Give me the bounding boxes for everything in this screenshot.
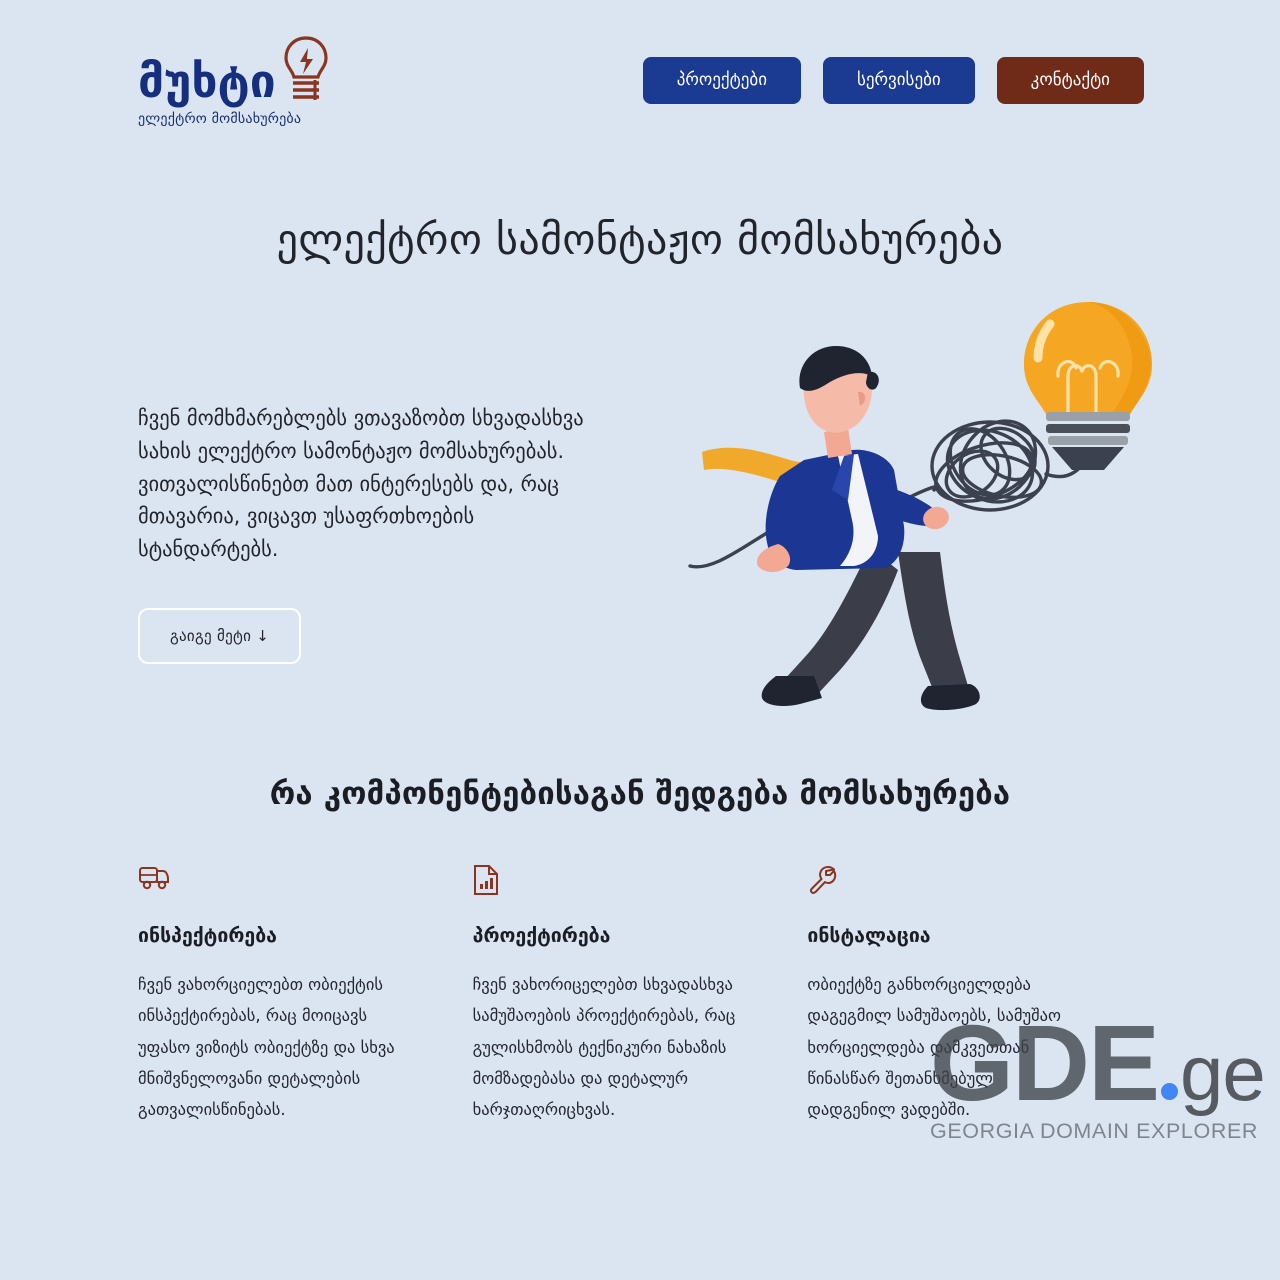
- features-cards: ინსპექტირება ჩვენ ვახორციელებთ ობიექტის …: [0, 864, 1280, 1126]
- nav-button-projects[interactable]: პროექტები: [643, 57, 801, 104]
- hero-illustration: [672, 284, 1172, 724]
- feature-card-title: ინსპექტირება: [138, 924, 413, 947]
- learn-more-button[interactable]: გაიგე მეტი ↓: [138, 608, 301, 664]
- document-chart-icon: [473, 864, 748, 898]
- nav-button-services[interactable]: სერვისები: [823, 57, 975, 104]
- feature-card-design: პროექტირება ჩვენ ვახორიცელებთ სხვადასხვა…: [473, 864, 808, 1126]
- hero-text-block: ჩვენ მომხმარებლებს ვთავაზობთ სხვადასხვა …: [138, 384, 608, 664]
- feature-card-body: ობიექტზე განხორციელდება დაგეგმილ სამუშაო…: [807, 969, 1082, 1126]
- hero-paragraph: ჩვენ მომხმარებლებს ვთავაზობთ სხვადასხვა …: [138, 402, 608, 566]
- feature-card-title: ინსტალაცია: [807, 924, 1082, 947]
- hero-title: ელექტრო სამონტაჟო მომსახურება: [0, 215, 1280, 264]
- feature-card-installation: ინსტალაცია ობიექტზე განხორციელდება დაგეგ…: [807, 864, 1142, 1126]
- feature-card-body: ჩვენ ვახორციელებთ ობიექტის ინსპექტირებას…: [138, 969, 413, 1126]
- brand-row: მუხტი: [138, 34, 330, 104]
- wrench-icon: [807, 864, 1082, 898]
- delivery-truck-icon: [138, 864, 413, 898]
- feature-card-inspection: ინსპექტირება ჩვენ ვახორციელებთ ობიექტის …: [138, 864, 473, 1126]
- features-title: რა კომპონენტებისაგან შედგება მომსახურება: [0, 776, 1280, 812]
- brand-name: მუხტი: [138, 58, 276, 104]
- main-nav: პროექტები სერვისები კონტაქტი: [643, 57, 1144, 104]
- feature-card-body: ჩვენ ვახორიცელებთ სხვადასხვა სამუშაოების…: [473, 969, 748, 1126]
- lightbulb-icon: [282, 34, 330, 104]
- brand-logo[interactable]: მუხტი ელექტრო მომსახურება: [138, 34, 330, 127]
- feature-card-title: პროექტირება: [473, 924, 748, 947]
- brand-tagline: ელექტრო მომსახურება: [138, 111, 301, 127]
- hero-section: ჩვენ მომხმარებლებს ვთავაზობთ სხვადასხვა …: [0, 384, 1280, 664]
- site-header: მუხტი ელექტრო მომსახურება პროექტები სერვ…: [0, 0, 1280, 160]
- nav-button-contact[interactable]: კონტაქტი: [997, 57, 1144, 104]
